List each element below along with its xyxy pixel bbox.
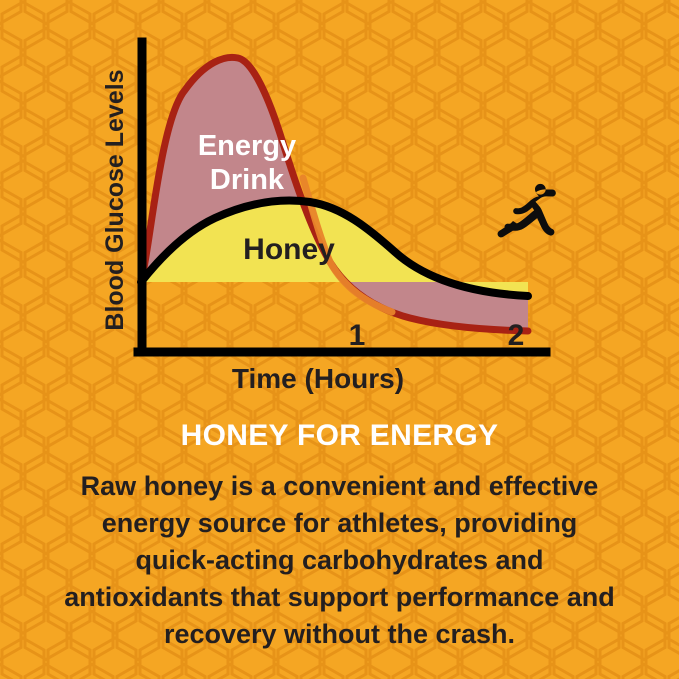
honey-label: Honey	[243, 233, 335, 266]
x-tick-label-2: 2	[508, 319, 525, 352]
energy-drink-label-top: Energy	[198, 130, 296, 162]
body-line: energy source for athletes, providing	[32, 505, 647, 542]
energy-drink-label-bottom: Drink	[210, 164, 285, 196]
body-copy: Raw honey is a convenient and effective …	[0, 468, 679, 653]
body-line: Raw honey is a convenient and effective	[32, 468, 647, 505]
x-tick-label-1: 1	[349, 319, 366, 352]
x-axis-label: Time (Hours)	[232, 363, 404, 394]
body-line: recovery without the crash.	[32, 616, 647, 653]
body-line: quick-acting carbohydrates and	[32, 542, 647, 579]
runner-icon	[498, 184, 556, 238]
y-axis-label: Blood Glucose Levels	[101, 69, 129, 330]
headline: HONEY FOR ENERGY	[0, 418, 679, 454]
body-line: antioxidants that support performance an…	[32, 579, 647, 616]
honey-energy-infographic: 1 2 Energy Drink Honey Blood Glucose Lev…	[0, 0, 679, 679]
blood-glucose-chart: 1 2 Energy Drink Honey Blood Glucose Lev…	[0, 0, 679, 400]
